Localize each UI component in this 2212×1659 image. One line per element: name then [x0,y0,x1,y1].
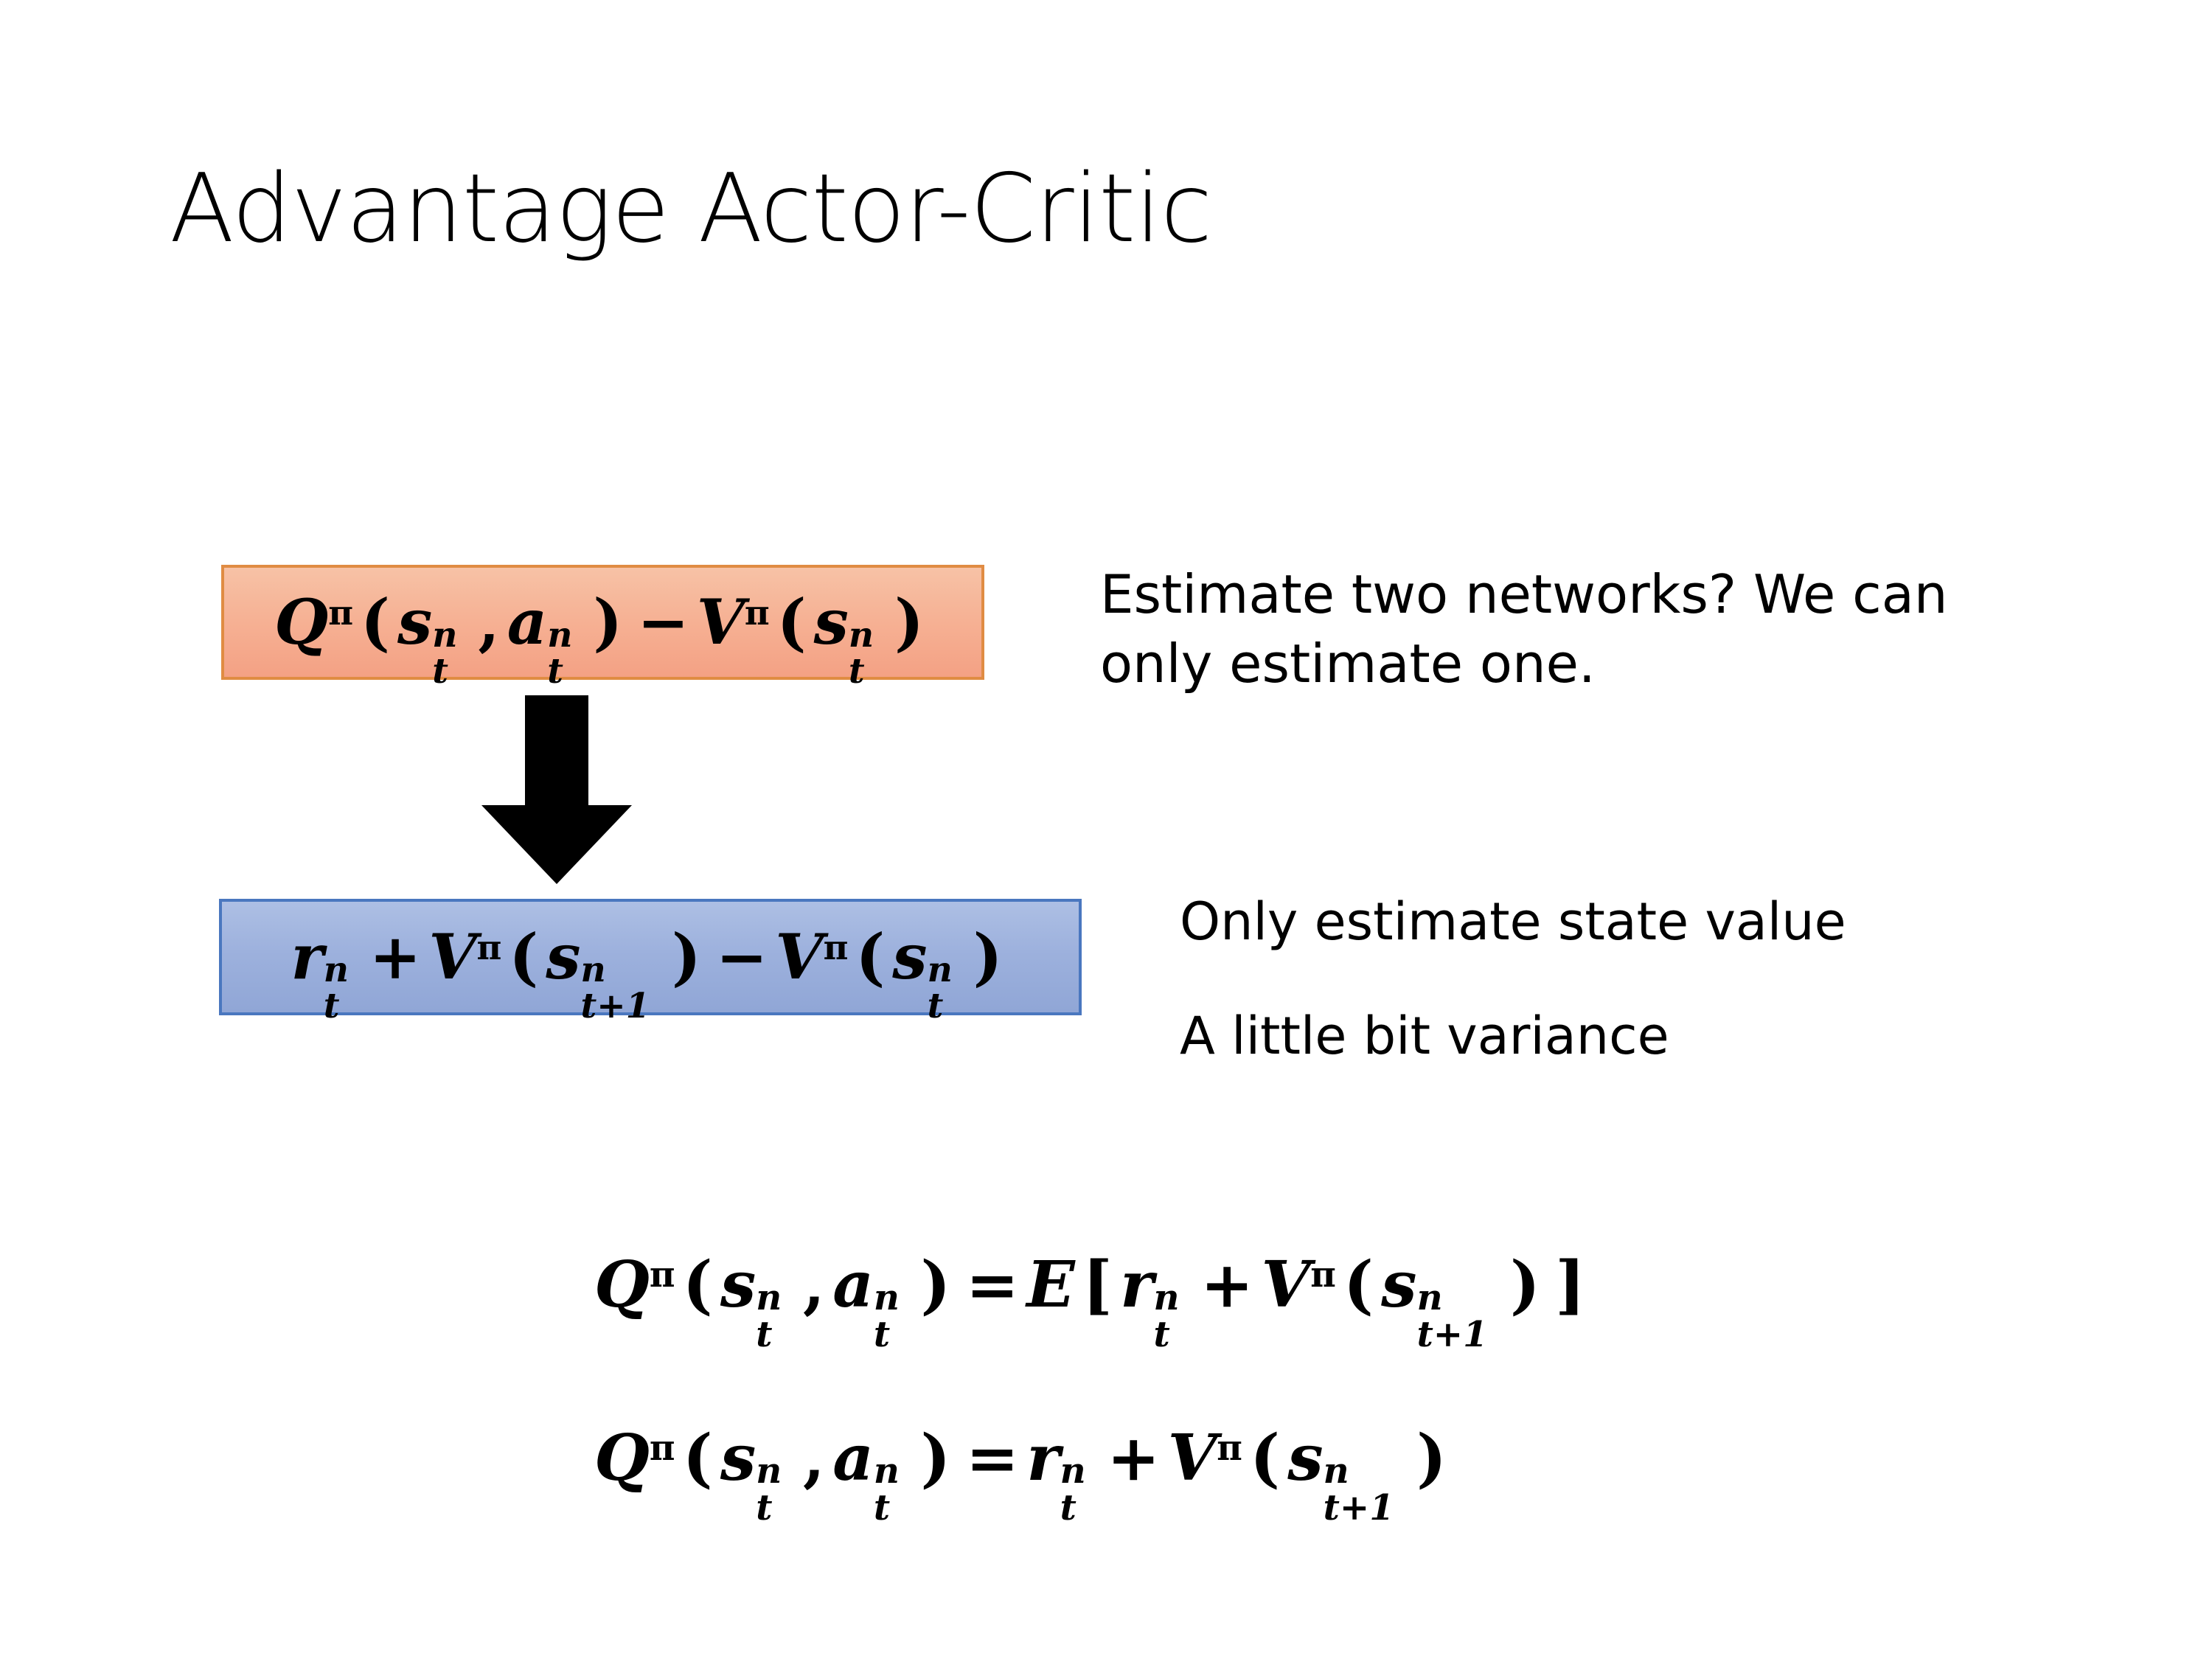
open-paren: ( [501,920,546,993]
equals-operator: = [959,1248,1027,1322]
pi-superscript: π [477,920,502,993]
plus-operator: + [1193,1248,1262,1322]
q-sample-equation: Qπ(snt,ant)=rnt+Vπ(snt+1) [594,1427,1454,1490]
pi-superscript: π [1217,1421,1242,1495]
open-paren: ( [675,1248,720,1322]
q-expectation-equation: Qπ(snt,ant)=E[rnt+Vπ(snt+1)] [594,1253,1593,1317]
equals-operator: = [959,1421,1027,1495]
state-symbol: s [546,920,580,993]
reward-symbol: r [1120,1248,1153,1322]
close-paren: ) [887,585,931,658]
close-paren: ) [1409,1421,1454,1495]
close-paren: ) [585,585,630,658]
close-bracket: ] [1548,1248,1593,1322]
pi-superscript: π [650,1248,675,1322]
plus-operator: + [1099,1421,1168,1495]
v-symbol: V [697,585,745,658]
comma: , [470,585,507,658]
open-paren: ( [770,585,814,658]
page-title: Advantage Actor-Critic [170,159,1211,260]
note-two-networks: Estimate two networks? We can only estim… [1100,560,2007,698]
plus-operator: + [362,920,429,993]
td-error-formula: rnt+Vπ(snt+1)−Vπ(snt) [291,926,1009,988]
open-paren: ( [848,920,892,993]
v-symbol: V [428,920,476,993]
open-paren: ( [675,1421,720,1495]
pi-superscript: π [824,920,849,993]
action-symbol: a [832,1421,874,1495]
td-error-formula-box: rnt+Vπ(snt+1)−Vπ(snt) [219,899,1082,1015]
close-paren: ) [1503,1248,1548,1322]
minus-operator: − [630,585,697,658]
open-paren: ( [1336,1248,1381,1322]
v-symbol: V [1168,1421,1217,1495]
pi-superscript: π [745,585,770,658]
close-paren: ) [966,920,1010,993]
open-paren: ( [1242,1421,1287,1495]
q-symbol: Q [594,1248,650,1322]
minus-operator: − [709,920,776,993]
v-symbol: V [775,920,823,993]
comma: , [796,1248,833,1322]
state-symbol: s [1287,1421,1323,1495]
action-symbol: a [507,585,547,658]
close-paren: ) [913,1421,958,1495]
open-bracket: [ [1075,1248,1120,1322]
pi-superscript: π [650,1421,675,1495]
arrow-down-icon [479,693,634,886]
state-symbol: s [720,1421,756,1495]
state-symbol: s [397,585,432,658]
state-symbol: s [814,585,849,658]
close-paren: ) [913,1248,958,1322]
expectation-symbol: E [1026,1248,1075,1322]
note-a-little-bit-variance: A little bit variance [1180,1003,2101,1070]
v-symbol: V [1261,1248,1310,1322]
close-paren: ) [664,920,709,993]
advantage-formula-box: Qπ(snt,ant)−Vπ(snt) [221,565,984,680]
pi-superscript: π [328,585,353,658]
q-symbol: Q [594,1421,650,1495]
reward-symbol: r [1026,1421,1060,1495]
note-only-estimate-state-value: Only estimate state value [1180,888,2101,956]
state-symbol: s [1381,1248,1416,1322]
state-symbol: s [720,1248,756,1322]
pi-superscript: π [1310,1248,1336,1322]
reward-symbol: r [291,920,323,993]
q-symbol: Q [274,585,328,658]
open-paren: ( [353,585,397,658]
slide-canvas: Advantage Actor-Critic Qπ(snt,ant)−Vπ(sn… [0,0,2212,1659]
advantage-formula: Qπ(snt,ant)−Vπ(snt) [274,591,931,653]
action-symbol: a [832,1248,874,1322]
state-symbol: s [892,920,927,993]
comma: , [796,1421,833,1495]
